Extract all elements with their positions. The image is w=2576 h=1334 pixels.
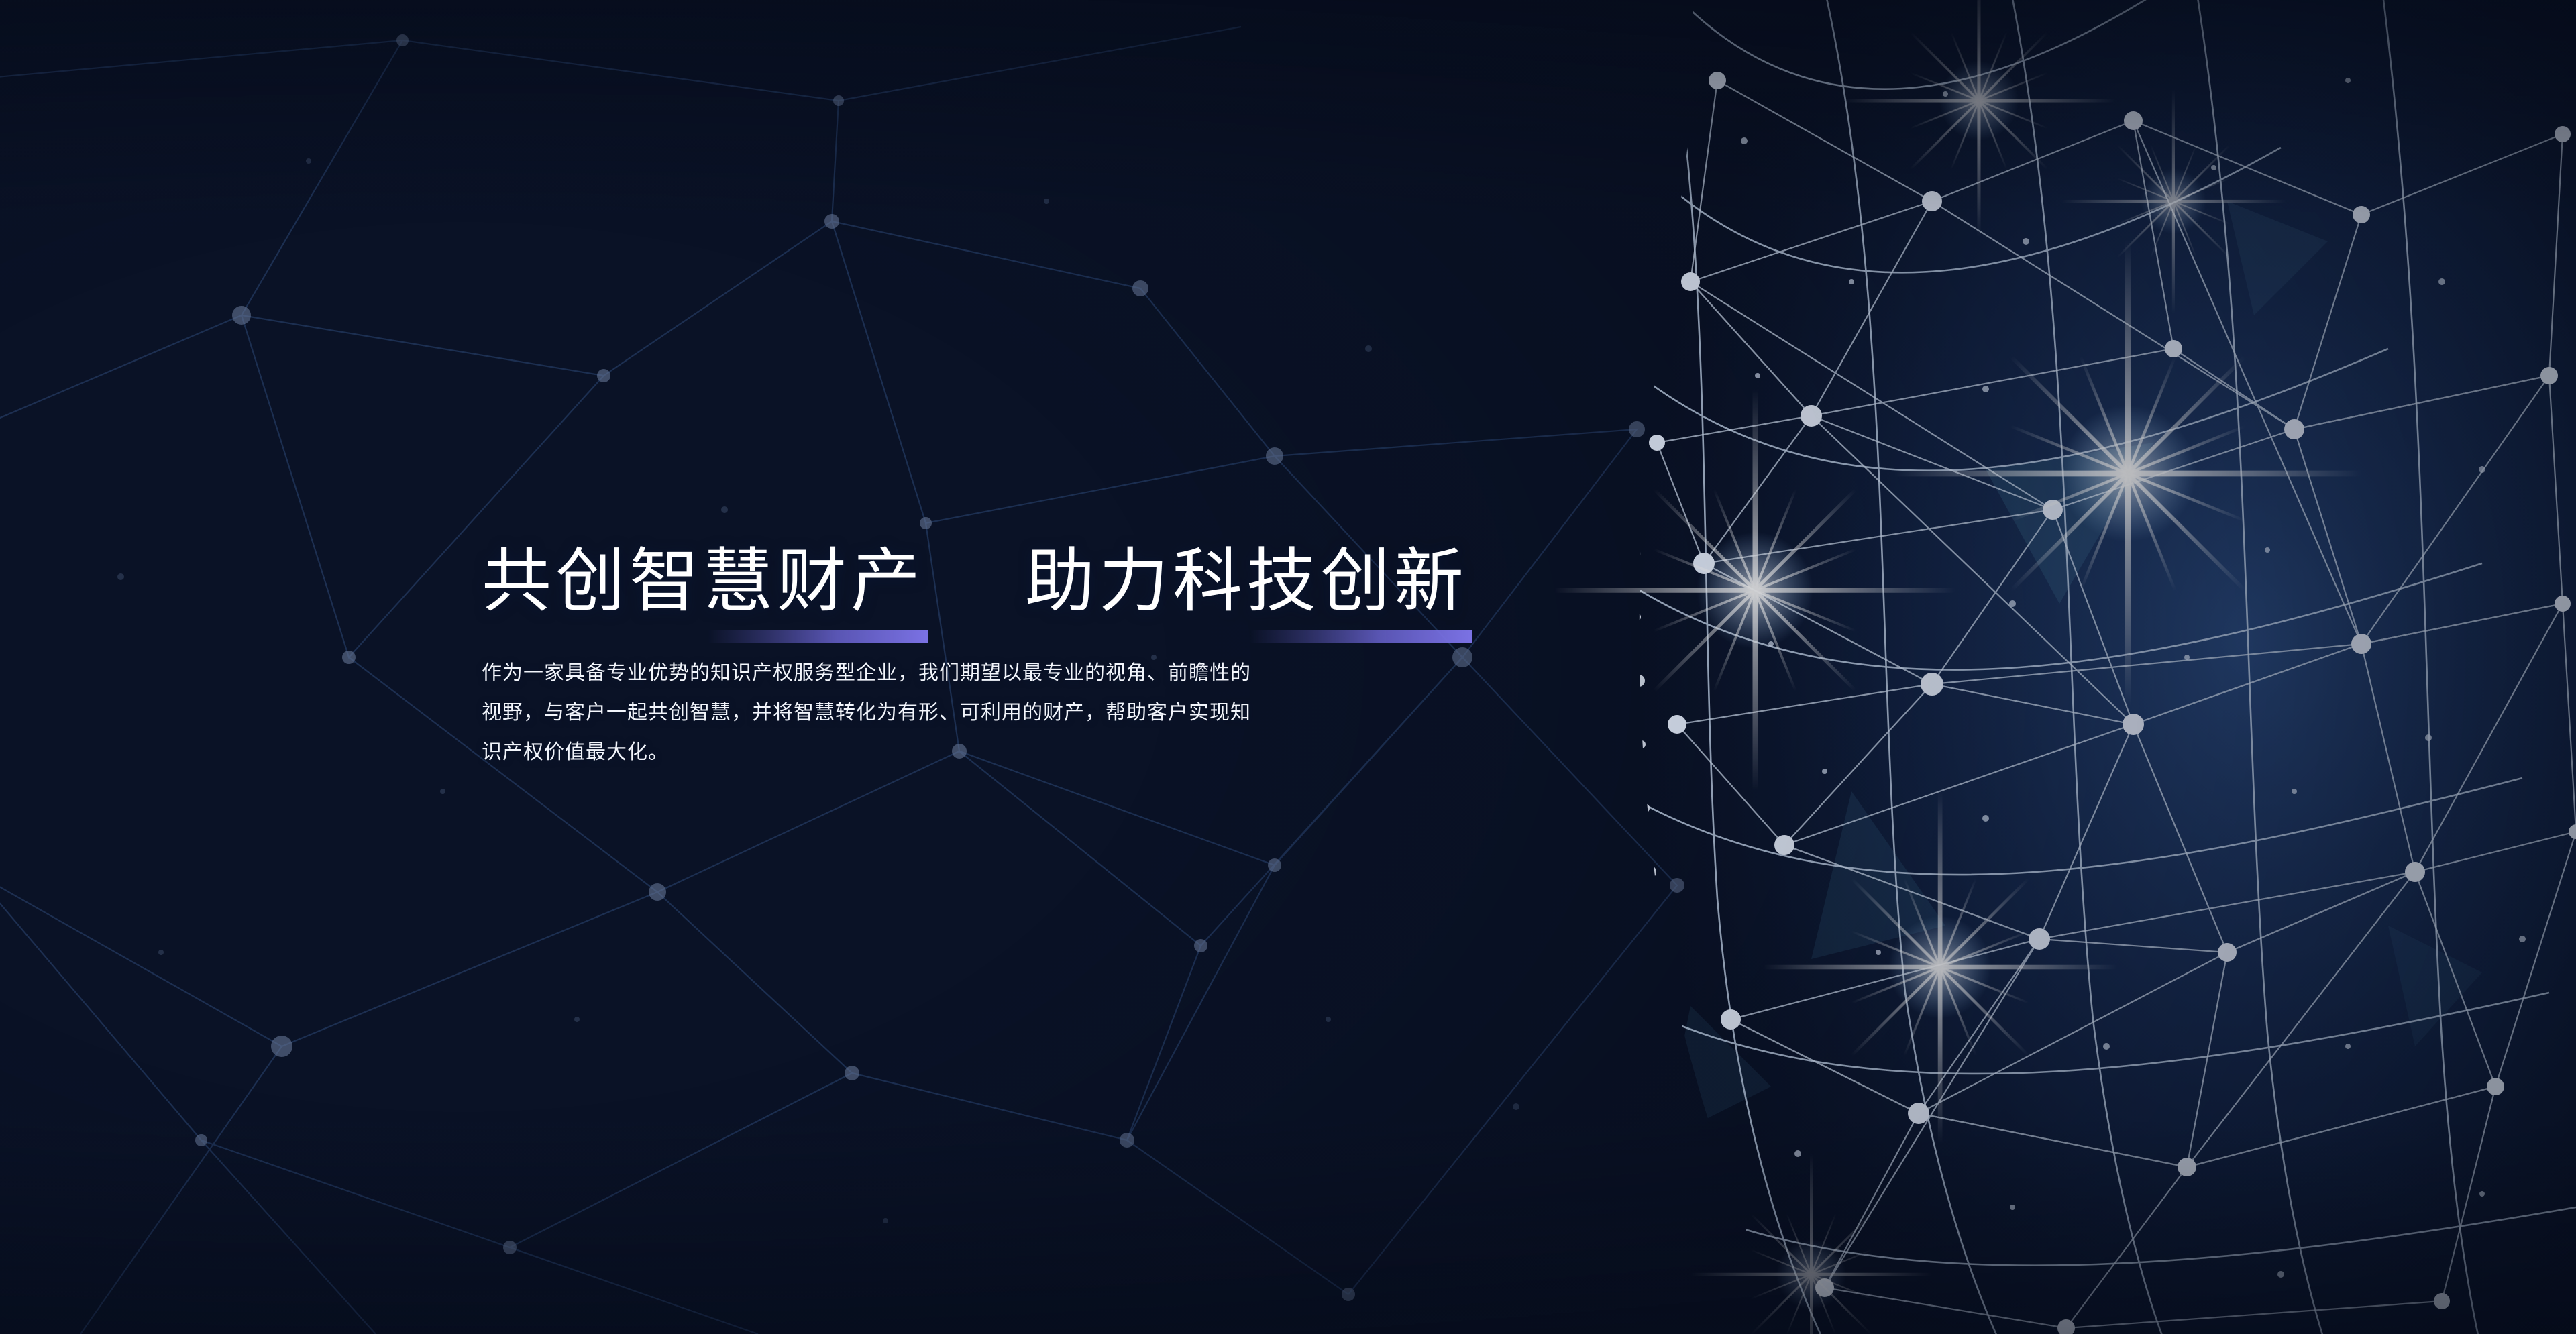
headline-phrase-2-text: 助力科技创新: [1025, 545, 1468, 618]
headline-phrase-1: 共创智慧财产: [482, 545, 924, 648]
hero-description: 作为一家具备专业优势的知识产权服务型企业，我们期望以最专业的视角、前瞻性的视野，…: [482, 653, 1253, 772]
headline-underline-2: [1250, 630, 1472, 643]
hero-text-block: 共创智慧财产 助力科技创新 作为一家具备专业优势的知识产权服务型企业，我们期望以…: [482, 545, 1488, 792]
headline-phrase-2: 助力科技创新: [1025, 545, 1468, 648]
headline-underline-1: [707, 630, 928, 643]
page-title: 共创智慧财产 助力科技创新: [482, 545, 1488, 648]
hero-banner: 共创智慧财产 助力科技创新 作为一家具备专业优势的知识产权服务型企业，我们期望以…: [0, 0, 2576, 1334]
headline-phrase-1-text: 共创智慧财产: [482, 545, 924, 618]
